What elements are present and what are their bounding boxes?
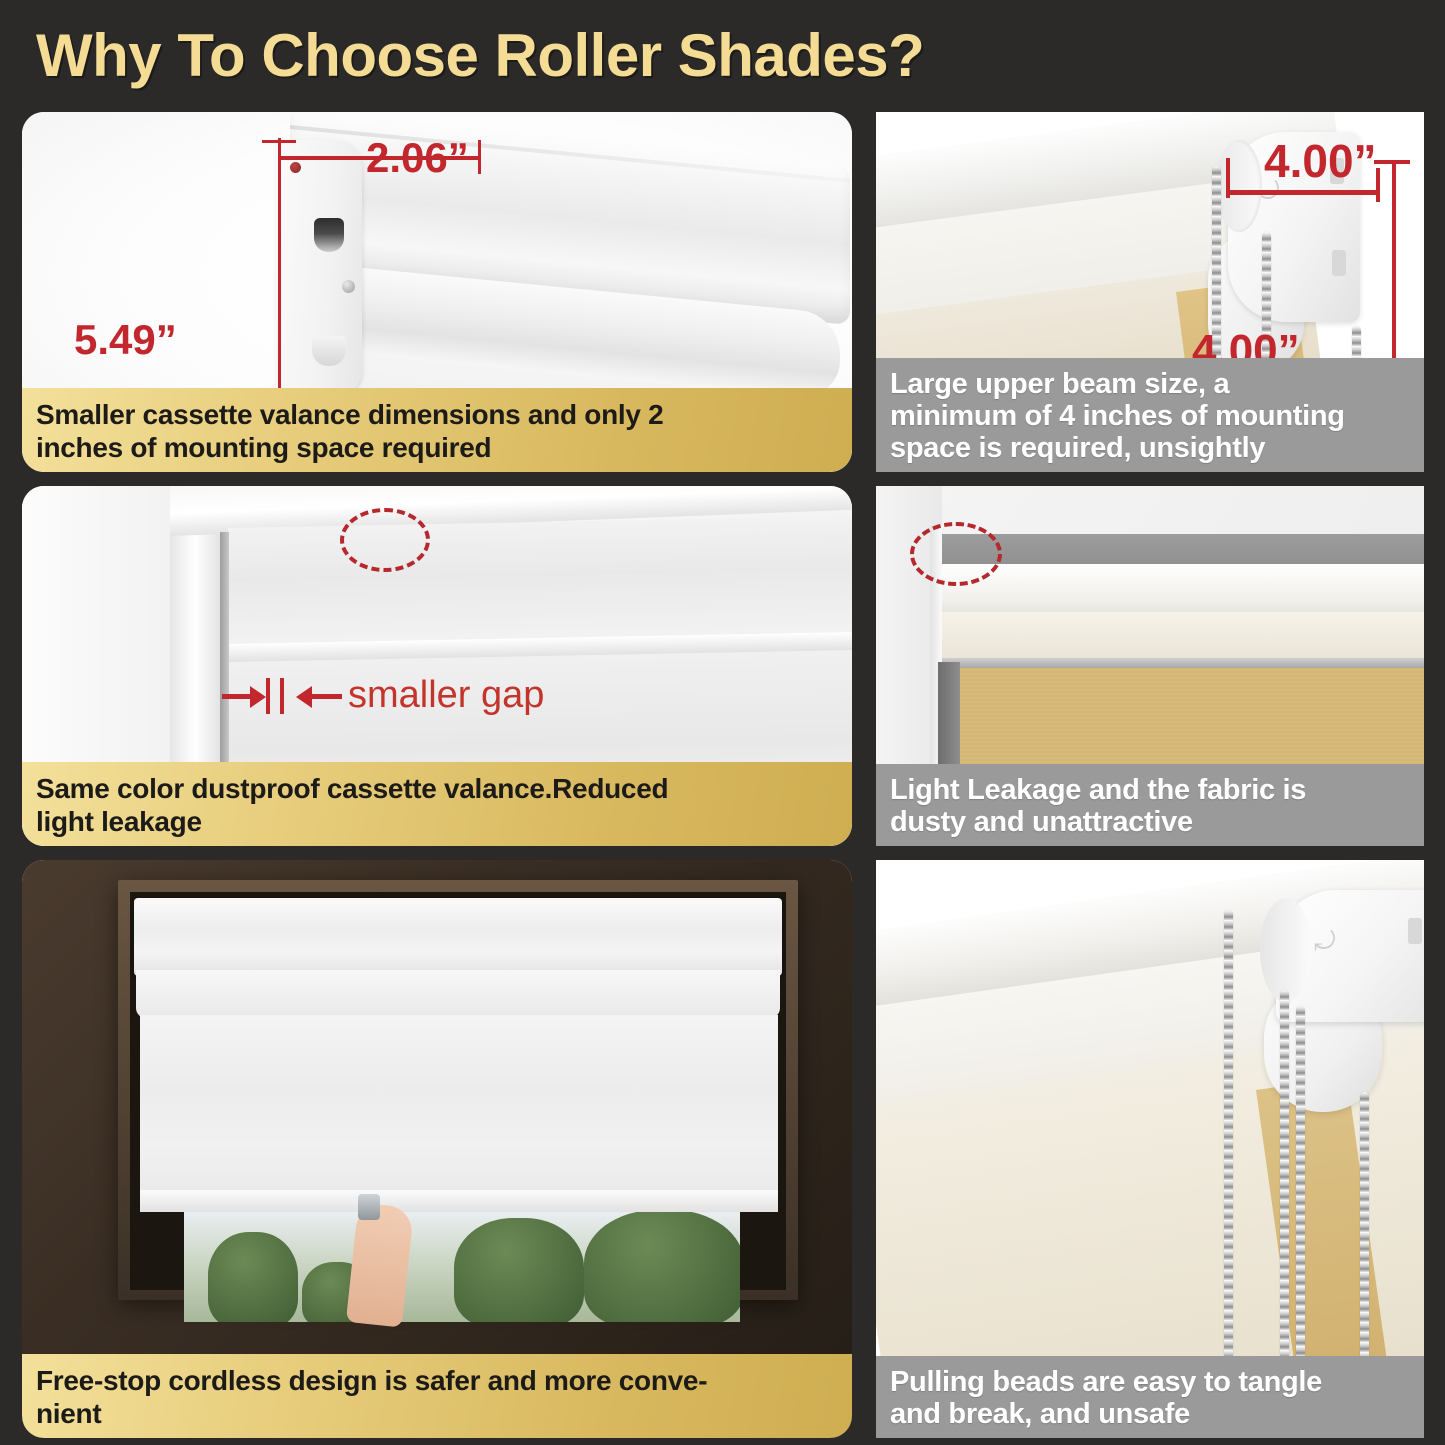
- infographic-root: Why To Choose Roller Shades? 2.06”: [0, 0, 1445, 1445]
- caption-line-1: Large upper beam size, a: [890, 368, 1410, 400]
- caption-line-1: Pulling beads are easy to tangle: [890, 1366, 1410, 1398]
- panel-caption: Large upper beam size, a minimum of 4 in…: [876, 358, 1424, 472]
- height-dim-tick-top: [262, 140, 296, 143]
- gap-highlight-ellipse: [910, 522, 1002, 586]
- pull-handle: [358, 1194, 380, 1220]
- panel-cordless-design: Free-stop cordless design is safer and m…: [22, 860, 852, 1438]
- panel-grid: 2.06” 5.49” Smaller cassette valance dim…: [0, 104, 1445, 1445]
- caption-line-2: and break, and unsafe: [890, 1398, 1410, 1430]
- panel-caption: Pulling beads are easy to tangle and bre…: [876, 1356, 1424, 1438]
- width-dim-label: 2.06”: [366, 134, 469, 182]
- bead-chain-middle-2: [1296, 1006, 1305, 1370]
- bead-chain-middle: [1280, 990, 1289, 1370]
- cordless-room-photo: [22, 860, 852, 1438]
- panel-dustproof-valance: smaller gap Same color dustproof cassett…: [22, 486, 852, 846]
- window-view: [184, 1212, 740, 1322]
- width-dim-tick-right: [478, 140, 481, 174]
- bracket-arrow-glyph: ⤾: [1314, 926, 1336, 958]
- caption-line-2: light leakage: [36, 805, 838, 838]
- width-dim-tick-right: [1376, 168, 1380, 202]
- page-title: Why To Choose Roller Shades?: [36, 20, 1416, 92]
- caption-line-2: dusty and unattractive: [890, 806, 1410, 838]
- panel-pulling-beads: ⤾ Pulling beads are easy to tangle and b…: [876, 860, 1424, 1438]
- panel-large-beam: ⤾ 4.00” 4.00” Large upper beam size, a: [876, 112, 1424, 472]
- caption-line-1: Smaller cassette valance dimensions and …: [36, 398, 838, 431]
- caption-line-1: Same color dustproof cassette valance.Re…: [36, 772, 838, 805]
- gap-highlight-ellipse: [340, 508, 430, 572]
- gap-arrow-right-head: [296, 686, 312, 708]
- caption-line-1: Free-stop cordless design is safer and m…: [36, 1364, 838, 1397]
- height-dim-label: 5.49”: [74, 316, 177, 364]
- width-dim-label: 4.00”: [1264, 134, 1377, 188]
- caption-line-3: space is required, unsightly: [890, 432, 1410, 464]
- panel-caption: Free-stop cordless design is safer and m…: [22, 1354, 852, 1438]
- width-dim-tick-left: [1226, 158, 1230, 198]
- gap-marker-bar: [266, 678, 270, 714]
- gap-arrow-right-shaft: [312, 694, 342, 699]
- width-dim-line: [1228, 190, 1380, 195]
- gap-arrow-left-shaft: [222, 694, 252, 699]
- panel-light-leakage: Large gap Light Leakage and the fabric i…: [876, 486, 1424, 846]
- caption-line-1: Light Leakage and the fabric is: [890, 774, 1410, 806]
- panel-caption: Smaller cassette valance dimensions and …: [22, 388, 852, 472]
- caption-line-2: nient: [36, 1397, 838, 1430]
- height-dim-line: [278, 140, 281, 430]
- bead-chain-left: [1224, 910, 1233, 1370]
- caption-line-2: minimum of 4 inches of mounting: [890, 400, 1410, 432]
- gap-arrow-left-head: [250, 686, 266, 708]
- gap-callout-label: smaller gap: [348, 674, 544, 717]
- panel-caption: Light Leakage and the fabric is dusty an…: [876, 764, 1424, 846]
- caption-line-2: inches of mounting space required: [36, 431, 838, 464]
- bead-chain-right: [1360, 1092, 1369, 1370]
- panel-caption: Same color dustproof cassette valance.Re…: [22, 762, 852, 846]
- height-dim-tick-top: [1374, 160, 1410, 164]
- gap-marker-bar-2: [280, 678, 284, 714]
- panel-cassette-dimensions: 2.06” 5.49” Smaller cassette valance dim…: [22, 112, 852, 472]
- pulling-beads-photo: ⤾: [876, 860, 1424, 1438]
